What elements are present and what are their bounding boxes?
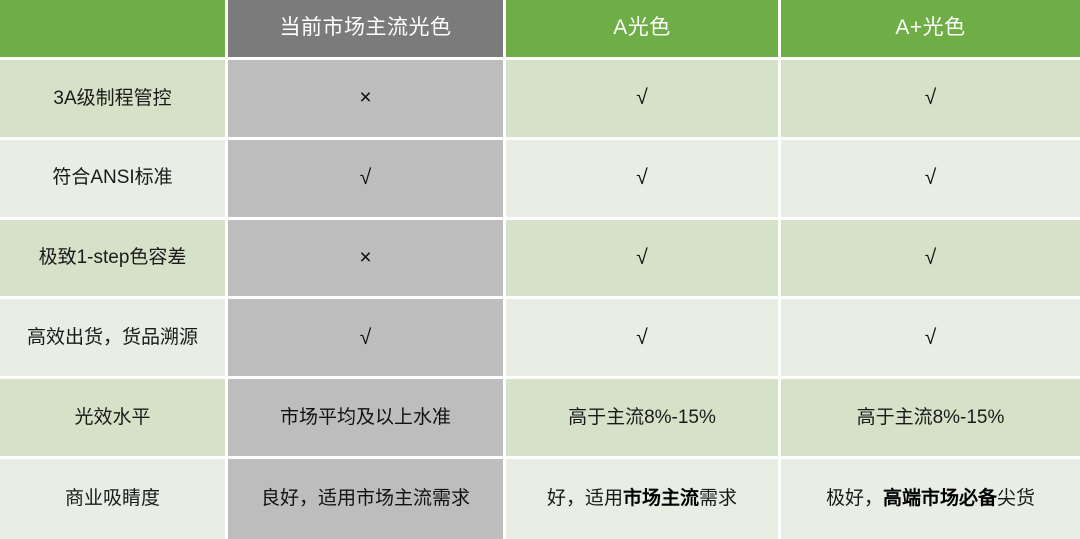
row-label-commercial-appeal: 商业吸睛度 [0,459,228,539]
cell-aplus-color-tolerance: √ [781,220,1080,300]
table-row: 高效出货，货品溯源 √ √ √ [0,299,1080,379]
cell-aplus-commercial-appeal: 极好，高端市场必备尖货 [781,459,1080,539]
cell-aplus-shipping-traceability: √ [781,299,1080,379]
row-label-ansi-standard: 符合ANSI标准 [0,140,228,220]
table-body: 3A级制程管控 × √ √ 符合ANSI标准 √ √ √ 极致1-step色容差… [0,60,1080,539]
cell-market-luminous-efficacy: 市场平均及以上水准 [228,379,506,459]
cell-a-commercial-appeal: 好，适用市场主流需求 [506,459,781,539]
cell-a-ansi-standard: √ [506,140,781,220]
row-label-luminous-efficacy: 光效水平 [0,379,228,459]
check-icon: √ [636,85,648,111]
cell-a-luminous-efficacy: 高于主流8%-15% [506,379,781,459]
check-icon: √ [925,245,937,271]
table-row: 符合ANSI标准 √ √ √ [0,140,1080,220]
check-icon: √ [360,165,372,191]
cross-icon: × [359,245,371,271]
check-icon: √ [360,325,372,351]
cell-aplus-ansi-standard: √ [781,140,1080,220]
table-header-row: 当前市场主流光色 A光色 A+光色 [0,0,1080,60]
cell-market-commercial-appeal: 良好，适用市场主流需求 [228,459,506,539]
check-icon: √ [636,325,648,351]
cell-market-color-tolerance: × [228,220,506,300]
table-row: 商业吸睛度 良好，适用市场主流需求 好，适用市场主流需求 极好，高端市场必备尖货 [0,459,1080,539]
row-label-process-control: 3A级制程管控 [0,60,228,140]
cell-a-shipping-traceability: √ [506,299,781,379]
cross-icon: × [359,85,371,111]
cell-aplus-luminous-efficacy: 高于主流8%-15% [781,379,1080,459]
check-icon: √ [925,165,937,191]
table-row: 3A级制程管控 × √ √ [0,60,1080,140]
header-cell-aplus: A+光色 [781,0,1080,60]
row-label-shipping-traceability: 高效出货，货品溯源 [0,299,228,379]
header-cell-feature [0,0,228,60]
check-icon: √ [925,325,937,351]
check-icon: √ [636,165,648,191]
cell-aplus-process-control: √ [781,60,1080,140]
cell-a-process-control: √ [506,60,781,140]
cell-a-color-tolerance: √ [506,220,781,300]
check-icon: √ [636,245,648,271]
header-cell-market: 当前市场主流光色 [228,0,506,60]
cell-market-shipping-traceability: √ [228,299,506,379]
cell-market-ansi-standard: √ [228,140,506,220]
table-row: 极致1-step色容差 × √ √ [0,220,1080,300]
cell-market-process-control: × [228,60,506,140]
table-row: 光效水平 市场平均及以上水准 高于主流8%-15% 高于主流8%-15% [0,379,1080,459]
light-color-comparison-table: 当前市场主流光色 A光色 A+光色 3A级制程管控 × √ √ 符合ANSI标准… [0,0,1080,539]
header-cell-a: A光色 [506,0,781,60]
row-label-color-tolerance: 极致1-step色容差 [0,220,228,300]
check-icon: √ [925,85,937,111]
